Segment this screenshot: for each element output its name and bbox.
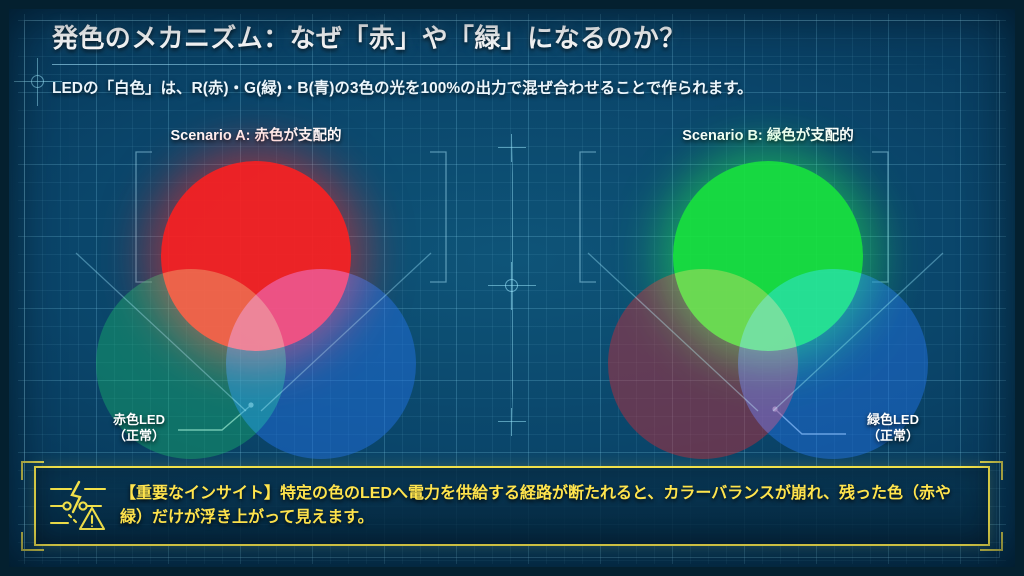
led-label-right-line2: （正常） <box>850 428 936 444</box>
led-label-left-line2: （正常） <box>96 428 182 444</box>
scenario-b-venn <box>568 161 968 431</box>
led-label-right: 緑色LED （正常） <box>850 412 936 444</box>
slide-canvas: 発色のメカニズム：なぜ「赤」や「緑」になるのか？ LEDの「白色」は、R(赤)・… <box>0 0 1024 576</box>
led-label-left: 赤色LED （正常） <box>96 412 182 444</box>
scenario-panel-a: Scenario A: 赤色が支配的 <box>0 124 512 431</box>
insight-box: 【重要なインサイト】特定の色のLEDへ電力を供給する経路が断たれると、カラーバラ… <box>34 466 990 546</box>
scenario-b-title: Scenario B: 緑色が支配的 <box>512 124 1024 145</box>
scenario-b-green-circle <box>673 161 863 351</box>
title-underline <box>52 64 938 65</box>
scenario-a-venn <box>56 161 456 431</box>
page-title: 発色のメカニズム：なぜ「赤」や「緑」になるのか？ <box>52 18 1024 55</box>
scenario-a-red-circle <box>161 161 351 351</box>
slide-header: 発色のメカニズム：なぜ「赤」や「緑」になるのか？ LEDの「白色」は、R(赤)・… <box>0 0 1024 98</box>
insight-text: 【重要なインサイト】特定の色のLEDへ電力を供給する経路が断たれると、カラーバラ… <box>120 482 988 531</box>
scenario-panel-b: Scenario B: 緑色が支配的 <box>512 124 1024 431</box>
led-label-left-line1: 赤色LED <box>113 412 165 427</box>
led-label-right-line1: 緑色LED <box>867 412 919 427</box>
page-subtitle: LEDの「白色」は、R(赤)・G(緑)・B(青)の3色の光を100%の出力で混ぜ… <box>52 76 1024 98</box>
broken-circuit-warning-icon <box>36 479 120 533</box>
scenario-a-title: Scenario A: 赤色が支配的 <box>0 124 512 145</box>
scenario-row: Scenario A: 赤色が支配的 Scenario B: 緑色が支配的 <box>0 124 1024 431</box>
